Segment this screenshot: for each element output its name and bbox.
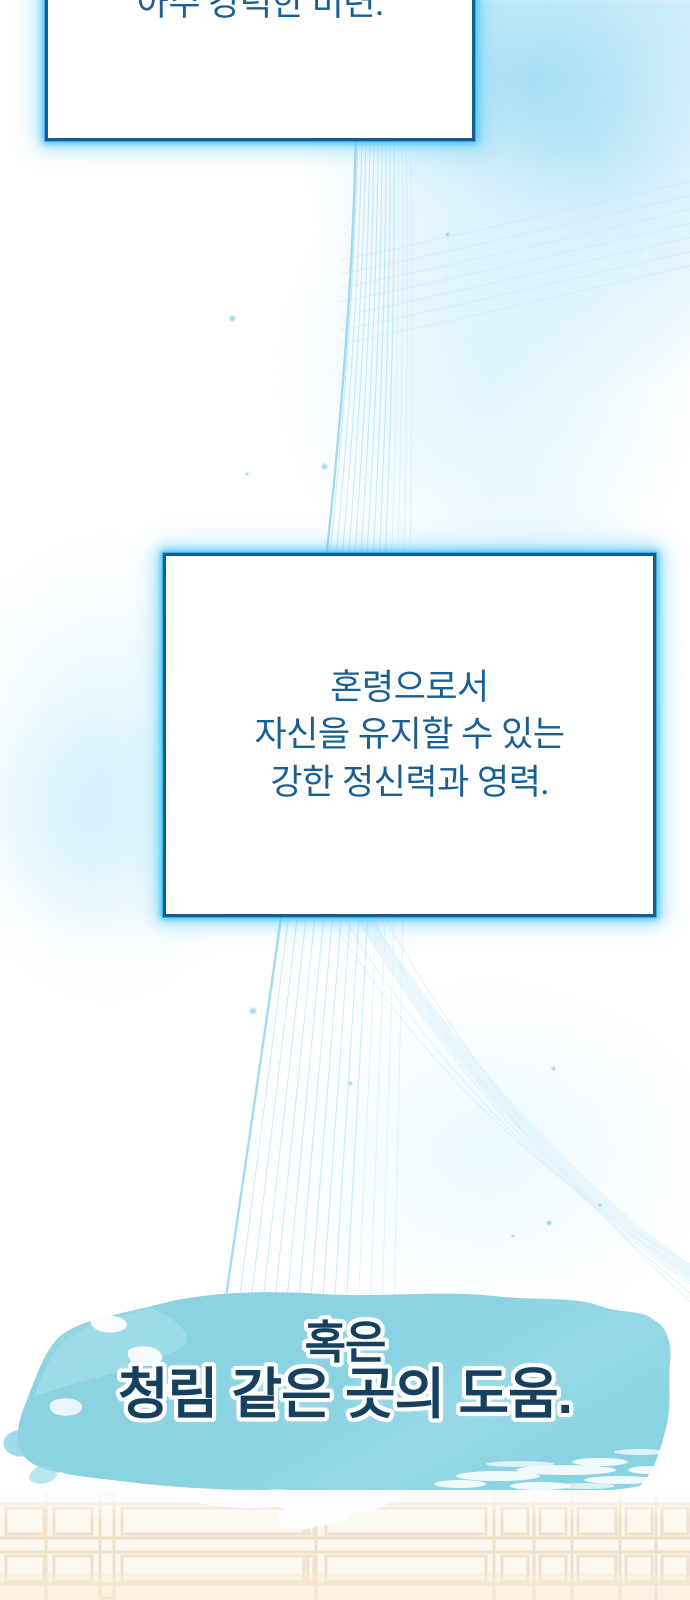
background-hatch-fan-icon <box>340 140 690 540</box>
sparkle-dot <box>229 315 236 322</box>
sparkle-dot <box>598 1203 602 1207</box>
webtoon-panel: 아주 강력한 미련. 혼령으로서 자신을 유지할 수 있는 강한 정신력과 영력… <box>0 0 690 1600</box>
sparkle-dot <box>551 1066 556 1071</box>
narration-box-middle: 혼령으로서 자신을 유지할 수 있는 강한 정신력과 영력. <box>163 553 656 917</box>
sparkle-dot <box>511 1234 515 1238</box>
brush-title-line-1: 혹은 <box>0 1320 690 1366</box>
sparkle-dot <box>245 472 249 476</box>
korean-lattice-pattern-icon <box>0 1490 690 1600</box>
narration-line: 아주 강력한 미련. <box>137 0 384 26</box>
narration-line: 혼령으로서 <box>254 664 564 711</box>
narration-box-top: 아주 강력한 미련. <box>45 0 475 141</box>
narration-line: 강한 정신력과 영력. <box>254 759 564 806</box>
narration-box-top-text: 아주 강력한 미련. <box>137 0 384 26</box>
narration-box-middle-text: 혼령으로서 자신을 유지할 수 있는 강한 정신력과 영력. <box>254 664 564 806</box>
brush-stroke-title: 혹은 청림 같은 곳의 도움. <box>0 1320 690 1424</box>
sparkle-dot <box>348 1081 353 1086</box>
sparkle-dot <box>546 1220 552 1226</box>
sparkle-dot <box>249 1007 257 1015</box>
brush-title-line-2: 청림 같은 곳의 도움. <box>0 1366 690 1424</box>
sparkle-dot <box>445 232 450 237</box>
sparkle-dot <box>321 463 328 470</box>
narration-line: 자신을 유지할 수 있는 <box>254 711 564 758</box>
